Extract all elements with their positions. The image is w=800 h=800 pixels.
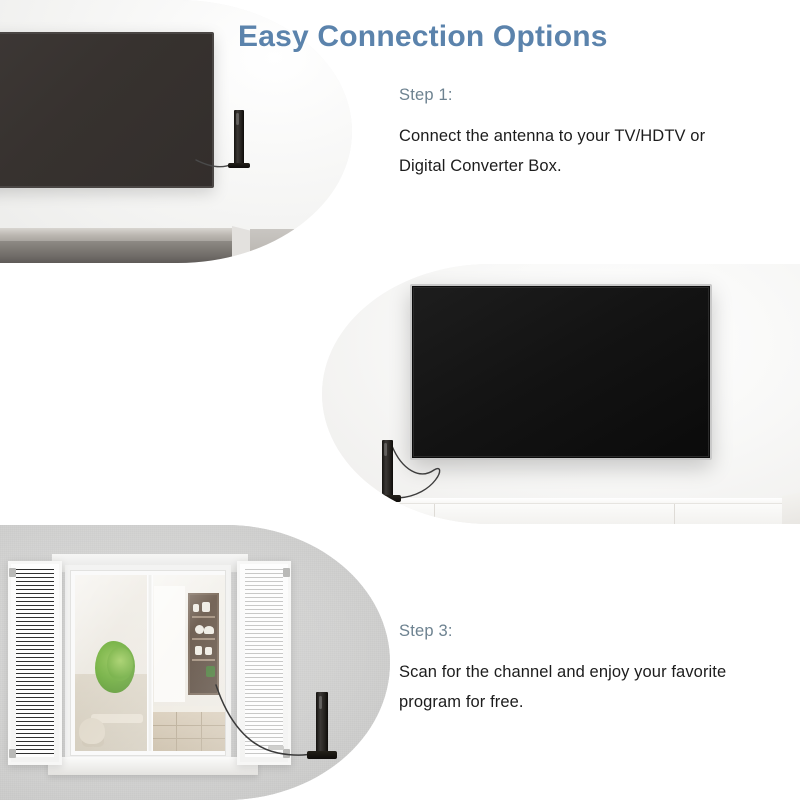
page-title: Easy Connection Options: [238, 20, 608, 54]
wall-shelf: [0, 228, 238, 241]
shutter-hinge: [283, 749, 290, 758]
shutter-latch: [268, 746, 284, 750]
shutter-hinge: [9, 749, 16, 758]
cabinet-line: [153, 738, 225, 739]
kitchen-panel: [154, 586, 184, 702]
step-3-body: Scan for the channel and enjoy your favo…: [399, 657, 726, 717]
tv-display-surface: [413, 287, 709, 457]
shutter-louvers: [245, 569, 283, 757]
antenna-base: [228, 163, 250, 168]
step-3-line-2: program for free.: [399, 687, 726, 717]
shelf-bowl: [204, 626, 214, 634]
shutter-right: [237, 561, 291, 765]
window-pane-left: [75, 575, 147, 751]
step-1-text-block: Step 1: Connect the antenna to your TV/H…: [399, 86, 705, 181]
console-seam: [434, 504, 435, 524]
concrete-block-side: [232, 226, 252, 263]
house-plant-secondary: [107, 647, 133, 681]
shutter-left: [8, 561, 62, 765]
step-3-label: Step 3:: [399, 622, 726, 641]
tv-screen: [410, 284, 712, 460]
antenna: [316, 692, 328, 752]
concrete-block: [250, 229, 294, 263]
shelf-item: [205, 647, 212, 655]
shelf-bowl: [195, 625, 204, 634]
photo-step-2: [322, 264, 800, 524]
cabinet-line: [153, 725, 225, 726]
shelf-board: [192, 616, 216, 618]
shutter-hinge: [9, 568, 16, 577]
antenna-highlight: [236, 113, 239, 125]
shelf-board: [192, 638, 216, 640]
window-sill: [48, 757, 258, 775]
antenna: [382, 440, 393, 496]
shelf-plant: [206, 666, 215, 677]
kitchen-cabinets: [153, 712, 225, 751]
step-3-text-block: Step 3: Scan for the channel and enjoy y…: [399, 622, 726, 717]
shutter-hinge: [283, 568, 290, 577]
antenna-highlight: [319, 696, 322, 709]
wall-shelf-underside: [0, 241, 232, 263]
shelf-item: [193, 604, 199, 612]
step-3-line-1: Scan for the channel and enjoy your favo…: [399, 657, 726, 687]
antenna-base: [307, 751, 337, 759]
window-mullion: [147, 575, 153, 751]
media-console: [338, 503, 800, 524]
panel-step-3: Step 3: Scan for the channel and enjoy y…: [0, 525, 800, 800]
panel-step-1: Step 1: Connect the antenna to your TV/H…: [0, 0, 800, 263]
shelf-item: [202, 602, 210, 612]
interior-stool: [79, 718, 105, 744]
media-console-end-cap: [782, 492, 800, 524]
window-pane-right: [153, 575, 225, 751]
shelf-board: [192, 659, 216, 661]
step-1-line-1: Connect the antenna to your TV/HDTV or: [399, 121, 705, 151]
panel-step-2: Step 2: Position the antenna on the tabl…: [0, 264, 800, 524]
console-seam: [674, 504, 675, 524]
step-1-body: Connect the antenna to your TV/HDTV or D…: [399, 121, 705, 181]
kitchen-shelving-unit: [188, 593, 220, 695]
step-1-line-2: Digital Converter Box.: [399, 151, 705, 181]
cabinet-seam: [201, 712, 202, 751]
step-1-label: Step 1:: [399, 86, 705, 105]
antenna: [234, 110, 244, 164]
infographic-root: Step 1: Connect the antenna to your TV/H…: [0, 0, 800, 800]
window-frame: [65, 565, 231, 761]
cabinet-seam: [176, 712, 177, 751]
shutter-louvers: [16, 569, 54, 757]
antenna-base: [374, 495, 401, 502]
shelf-item: [195, 646, 202, 655]
tv-display-surface: [0, 34, 212, 186]
antenna-highlight: [384, 443, 387, 455]
tv-screen: [0, 32, 214, 188]
